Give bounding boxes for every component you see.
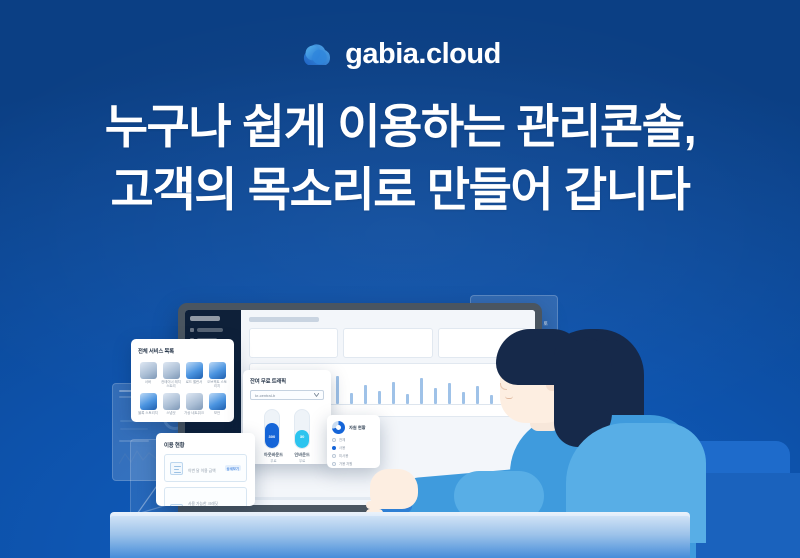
registry-cube-icon <box>163 362 180 379</box>
service-item-2[interactable]: 로드 밸런서 <box>184 362 204 388</box>
sidebar-item-0[interactable] <box>190 328 236 332</box>
finger <box>366 501 386 509</box>
radio-icon[interactable] <box>332 454 336 458</box>
legend-item-2[interactable]: 미사용 <box>332 453 375 458</box>
service-item-label: 로드 밸런서 <box>184 381 204 385</box>
snapshot-cube-icon <box>163 393 180 410</box>
resource-legend[interactable]: 전체사용미사용가용 자원예약 자원 <box>332 437 375 468</box>
gauge-1: 30인바운드무료 <box>294 409 310 463</box>
cloud-icon <box>299 39 335 71</box>
server-cube-icon <box>140 362 157 379</box>
donut-chart-icon <box>332 421 345 434</box>
usage-row-credit-label: 사용 가능한 크레딧 <box>188 502 218 506</box>
service-item-3[interactable]: 오브젝트 스토리지 <box>207 362 227 388</box>
service-item-label: 스냅샷 <box>161 412 181 416</box>
network-icon <box>186 393 203 410</box>
legend-item-label: 사용 <box>339 445 345 450</box>
region-select[interactable]: kr-central-b <box>250 390 324 400</box>
brand-logo: gabia.cloud <box>0 38 800 71</box>
desk <box>110 516 690 558</box>
card-usage-status-title: 이용 현황 <box>164 441 247 449</box>
block-storage-icon <box>140 393 157 410</box>
legend-item-label: 미사용 <box>339 453 348 458</box>
coupon-icon <box>170 504 183 507</box>
service-item-5[interactable]: 스냅샷 <box>161 393 181 416</box>
sidebar-item-label <box>197 328 223 331</box>
chevron-down-icon <box>314 393 319 398</box>
legend-item-label: 가용 자원 <box>339 461 352 466</box>
service-item-4[interactable]: 블록 스토리지 <box>138 393 158 416</box>
card-usage-status[interactable]: 이용 현황 이번 달 이용 금액 상세보기 사용 가능한 크레딧 ₩6,080 … <box>156 433 255 506</box>
region-select-value: kr-central-b <box>255 393 275 398</box>
service-item-label: 가상 네트워크 <box>184 412 204 416</box>
radio-icon[interactable] <box>332 462 336 466</box>
legend-item-0[interactable]: 전체 <box>332 437 375 442</box>
card-resource-status-title: 자원 현황 <box>349 425 366 431</box>
usage-row-amount[interactable]: 이번 달 이용 금액 상세보기 <box>164 454 247 482</box>
logo-text: gabia.cloud <box>345 38 501 71</box>
service-item-label: 서버 <box>138 381 158 385</box>
console-logo <box>190 316 220 321</box>
radio-icon[interactable] <box>332 438 336 442</box>
traffic-gauges: 300아웃바운드무료30인바운드무료 <box>250 409 324 463</box>
gauge-value: 300 <box>265 434 279 439</box>
card-free-traffic[interactable]: 잔여 무료 트래픽 kr-central-b 300아웃바운드무료30인바운드무… <box>243 370 331 464</box>
poster-canvas: gabia.cloud 누구나 쉽게 이용하는 관리콘솔, 고객의 목소리로 만… <box>0 0 800 558</box>
gauge-sub: 무료 <box>294 458 310 463</box>
service-item-0[interactable]: 서버 <box>138 362 158 388</box>
service-item-label: 블록 스토리지 <box>138 412 158 416</box>
gauge-tube: 300 <box>264 409 280 449</box>
page-title: 누구나 쉽게 이용하는 관리콘솔, 고객의 목소리로 만들어 갑니다 <box>0 96 800 222</box>
service-item-label: 오브젝트 스토리지 <box>207 381 227 388</box>
card-resource-status[interactable]: 자원 현황 전체사용미사용가용 자원예약 자원 <box>327 415 380 468</box>
service-item-1[interactable]: 컨테이너 레지스트리 <box>161 362 181 388</box>
service-item-label: 보안 <box>207 412 227 416</box>
usage-row-credit[interactable]: 사용 가능한 크레딧 ₩6,080 원 <box>164 487 247 506</box>
card-service-list-title: 전체 서비스 목록 <box>138 347 227 355</box>
legend-item-label: 전체 <box>339 437 345 442</box>
content-title-placeholder <box>249 317 319 322</box>
gauge-tube: 30 <box>294 409 310 449</box>
service-grid[interactable]: 서버컨테이너 레지스트리로드 밸런서오브젝트 스토리지블록 스토리지스냅샷가상 … <box>138 362 227 416</box>
card-service-list[interactable]: 전체 서비스 목록 서버컨테이너 레지스트리로드 밸런서오브젝트 스토리지블록 … <box>131 339 234 422</box>
gauge-sub: 무료 <box>264 458 283 463</box>
service-item-7[interactable]: 보안 <box>207 393 227 416</box>
hero-illustration: ‹ › 2023년 09월 일월화수목금토1234567891011121314… <box>0 255 800 558</box>
service-item-label: 컨테이너 레지스트리 <box>161 381 181 388</box>
storage-cube-icon <box>209 362 226 379</box>
stat-card <box>249 328 338 358</box>
loadbalancer-icon <box>186 362 203 379</box>
resource-chart-header: 자원 현황 <box>332 421 375 434</box>
headline-line-1: 누구나 쉽게 이용하는 관리콘솔, <box>0 96 800 159</box>
usage-row-amount-label: 이번 달 이용 금액 <box>188 469 216 473</box>
legend-item-3[interactable]: 가용 자원 <box>332 461 375 466</box>
headline-line-2: 고객의 목소리로 만들어 갑니다 <box>0 159 800 222</box>
gauge-value: 30 <box>295 434 309 439</box>
legend-item-1[interactable]: 사용 <box>332 445 375 450</box>
sidebar-item-icon <box>190 328 194 332</box>
card-free-traffic-title: 잔여 무료 트래픽 <box>250 377 324 385</box>
invoice-icon <box>170 462 183 475</box>
stat-card <box>343 328 432 358</box>
gauge-0: 300아웃바운드무료 <box>264 409 283 463</box>
usage-row-amount-tag[interactable]: 상세보기 <box>225 465 241 471</box>
service-item-6[interactable]: 가상 네트워크 <box>184 393 204 416</box>
radio-icon[interactable] <box>332 446 336 450</box>
security-icon <box>209 393 226 410</box>
